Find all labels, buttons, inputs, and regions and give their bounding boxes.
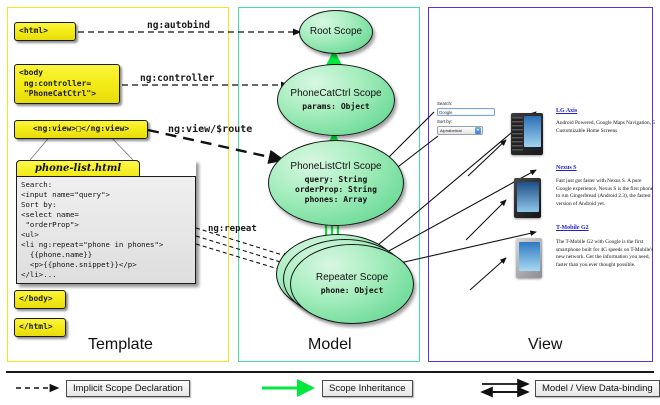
code-card-title: phone-list.html — [16, 160, 140, 176]
code-card-phone-list[interactable]: phone-list.html Search: <input name="que… — [16, 160, 196, 284]
connector-label-route: ng:view/$route — [168, 124, 252, 135]
phone-thumb-lg-axis — [511, 113, 543, 155]
phone-thumb-t-mobile-g2 — [516, 238, 542, 278]
panel-label-model: Model — [308, 336, 352, 354]
tag-body-close[interactable]: </body> — [14, 290, 66, 309]
legend-item-databinding: Model / View Data-binding — [535, 380, 660, 397]
connector-label-autobind: ng:autobind — [147, 20, 210, 31]
phone-link-1[interactable]: Nexus S — [556, 165, 577, 171]
phone-link-0[interactable]: LG Axis — [556, 108, 577, 114]
tag-body-open[interactable]: <body ng:controller= "PhoneCatCtrl"> — [14, 64, 120, 104]
code-card-body: Search: <input name="query"> Sort by: <s… — [16, 176, 196, 284]
scope-repeater[interactable]: Repeater Scope phone: Object — [290, 244, 414, 324]
connector-label-repeat: ng:repeat — [208, 224, 257, 234]
chevron-down-icon[interactable]: ▾ — [475, 127, 481, 134]
scope-repeater-title: Repeater Scope — [316, 272, 388, 283]
legend-item-inheritance: Scope Inheritance — [322, 380, 413, 397]
panel-label-template: Template — [88, 336, 153, 354]
sort-label: Sort by: — [437, 119, 452, 124]
phone-thumb-nexus-s — [514, 178, 541, 218]
scope-root-title: Root Scope — [310, 26, 362, 37]
phone-link-2[interactable]: T-Mobile G2 — [556, 225, 589, 231]
scope-root[interactable]: Root Scope — [299, 10, 373, 54]
tag-html-open[interactable]: <html> — [14, 22, 76, 41]
scope-phonecatctrl-props: params: Object — [302, 102, 369, 112]
scope-phonecatctrl-title: PhoneCatCtrl Scope — [290, 88, 381, 99]
tag-ng-view[interactable]: <ng:view>□</ng:view> — [14, 120, 148, 139]
scope-phonelistctrl-title: PhoneListCtrl Scope — [290, 161, 381, 172]
phone-snippet-1: Fast just got faster with Nexus S. A pur… — [556, 178, 656, 209]
search-input[interactable]: Google — [437, 108, 495, 116]
search-label: Search: — [437, 101, 452, 106]
tag-html-close[interactable]: </html> — [14, 318, 66, 337]
phone-snippet-2: The T-Mobile G2 with Google is the first… — [556, 239, 656, 270]
phone-snippet-0: Android Powered, Google Maps Navigation,… — [556, 120, 656, 135]
scope-repeater-props: phone: Object — [321, 286, 384, 296]
connector-label-controller: ng:controller — [140, 73, 214, 84]
legend-divider — [6, 371, 654, 373]
legend-item-implicit: Implicit Scope Declaration — [66, 380, 190, 397]
diagram-canvas: <html> <body ng:controller= "PhoneCatCtr… — [0, 0, 660, 405]
panel-label-view: View — [528, 336, 562, 354]
scope-phonelistctrl[interactable]: PhoneListCtrl Scope query: String orderP… — [268, 140, 404, 226]
scope-phonecatctrl[interactable]: PhoneCatCtrl Scope params: Object — [277, 64, 395, 136]
scope-phonelistctrl-props: query: String orderProp: String phones: … — [295, 175, 377, 204]
